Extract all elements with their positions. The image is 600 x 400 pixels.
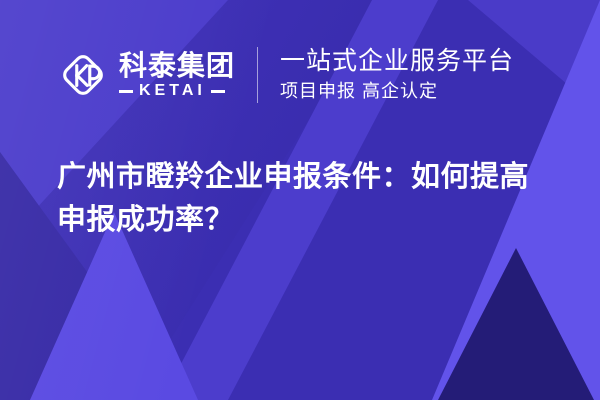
tagline-sub: 项目申报 高企认定: [280, 80, 514, 103]
banner-headline: 广州市瞪羚企业申报条件：如何提高申报成功率？: [57, 156, 557, 242]
brand-lockup: 科泰集团 KETAI: [57, 49, 235, 101]
ketai-logo-icon: [57, 49, 109, 101]
brand-en-row: KETAI: [119, 83, 235, 99]
brand-name-en: KETAI: [139, 83, 206, 99]
tagline-main: 一站式企业服务平台: [280, 47, 514, 76]
brand-dash-left-icon: [119, 90, 133, 93]
header-divider: [257, 47, 258, 103]
promo-banner: 科泰集团 KETAI 一站式企业服务平台 项目申报 高企认定 广州市瞪羚企业申报…: [0, 0, 600, 400]
tagline-block: 一站式企业服务平台 项目申报 高企认定: [280, 47, 514, 103]
banner-header: 科泰集团 KETAI 一站式企业服务平台 项目申报 高企认定: [0, 42, 600, 108]
brand-name-cn: 科泰集团: [119, 51, 235, 80]
brand-dash-right-icon: [211, 90, 225, 93]
brand-text-block: 科泰集团 KETAI: [119, 51, 235, 99]
